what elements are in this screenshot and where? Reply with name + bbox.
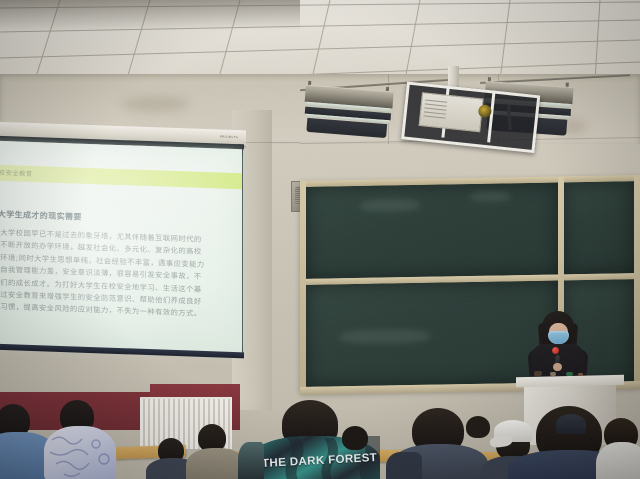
podium-object [578, 373, 583, 376]
slide-title-text: 高校安全教育 [0, 168, 33, 178]
chalkboard-divider [634, 175, 640, 387]
presenter-hand [553, 363, 562, 371]
projector-vent [425, 103, 447, 106]
presenter-badge [552, 347, 559, 354]
screen-brand-label: PROJECTA [220, 135, 238, 140]
chalk-smudge [470, 191, 510, 202]
podium-object [534, 371, 542, 376]
classroom-photograph: PROJECTA 高校安全教育 二、大学生成才的现实需要 当前，大学校园早已不是… [0, 0, 640, 479]
dark-cap [556, 414, 586, 434]
chalkboard-divider [300, 181, 306, 393]
hoodie-pattern [44, 426, 116, 479]
projector-vent [425, 99, 447, 102]
student-arm [238, 442, 264, 479]
wall-stain [120, 96, 190, 112]
chalkboard-pane [306, 182, 558, 278]
wall-light-left [302, 85, 393, 140]
slide-heading: 二、大学生成才的现实需要 [0, 208, 82, 223]
projector-vent [424, 115, 446, 118]
podium-object [550, 372, 556, 376]
projector-vent [424, 111, 446, 114]
student-body [186, 448, 246, 479]
slide-body: 当前，大学校园早已不是过去的象牙塔，尤其伴随着互联网时代的 到来，不断开放的办学… [0, 226, 242, 322]
slide-title-banner [0, 164, 242, 189]
projection-screen: PROJECTA 高校安全教育 二、大学生成才的现实需要 当前，大学校园早已不是… [0, 122, 246, 361]
green-chalkboard [300, 175, 640, 393]
student-head [342, 426, 368, 450]
chalk-smudge [360, 199, 420, 212]
projector-body [418, 92, 483, 132]
projector-vent [424, 107, 446, 110]
student-backpack [386, 452, 422, 479]
podium-object [566, 372, 573, 376]
chalkboard-pane [564, 181, 634, 274]
screen-surface: 高校安全教育 二、大学生成才的现实需要 当前，大学校园早已不是过去的象牙塔，尤其… [0, 141, 242, 355]
student-head [466, 416, 490, 438]
student-body [596, 442, 640, 479]
ceiling-shadow [0, 0, 300, 30]
